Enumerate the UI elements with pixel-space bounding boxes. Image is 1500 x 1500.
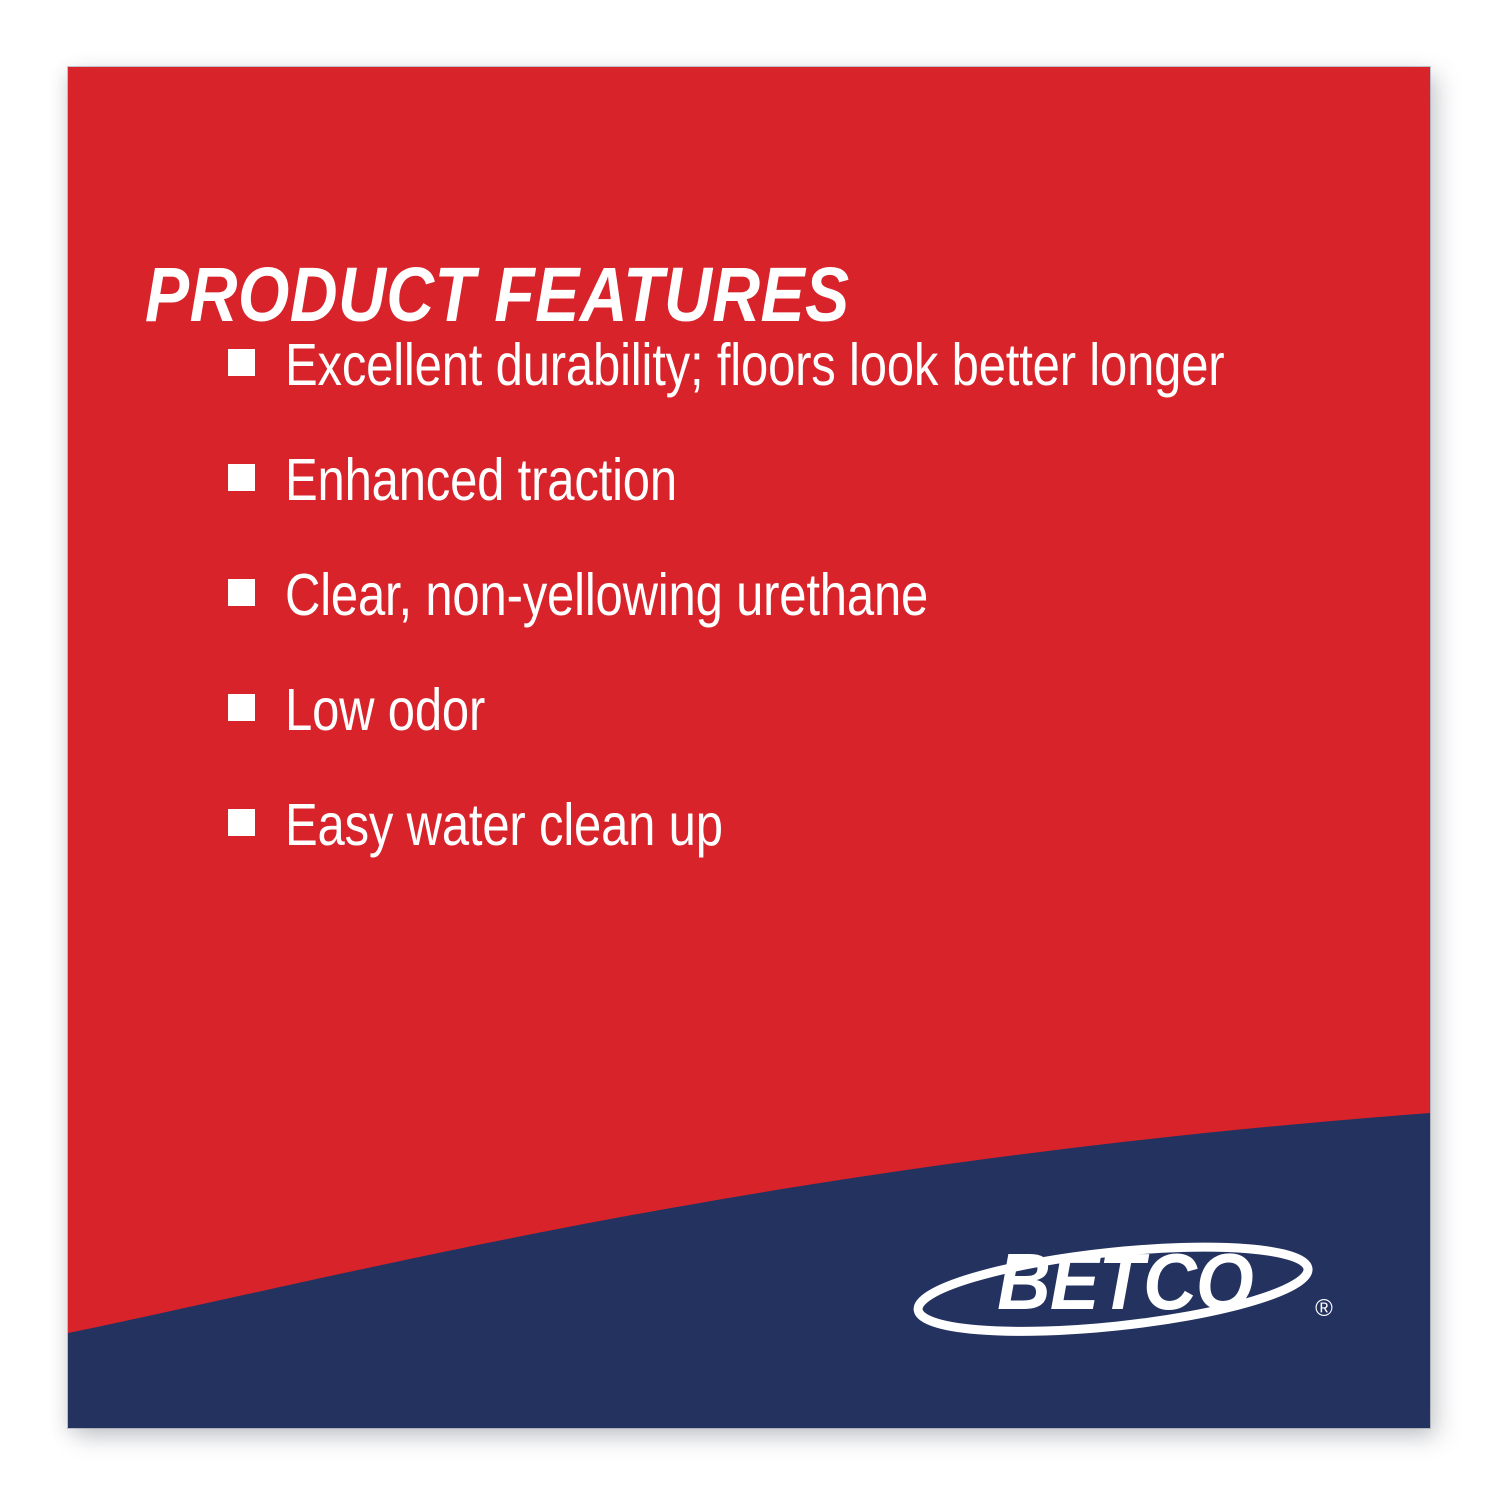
feature-label: Clear, non-yellowing urethane (285, 565, 928, 625)
product-features-list: Excellent durability; floors look better… (228, 335, 1358, 910)
square-bullet-icon (228, 809, 255, 836)
list-item: Excellent durability; floors look better… (228, 335, 1358, 450)
logo-wordmark: BETCO (997, 1238, 1253, 1327)
product-card: PRODUCT FEATURES Excellent durability; f… (68, 67, 1430, 1428)
feature-label: Easy water clean up (285, 795, 723, 855)
list-item: Easy water clean up (228, 795, 1358, 910)
betco-logo: BETCO ® (900, 1236, 1350, 1336)
feature-label: Enhanced traction (285, 450, 677, 510)
square-bullet-icon (228, 579, 255, 606)
list-item: Low odor (228, 680, 1358, 795)
square-bullet-icon (228, 349, 255, 376)
square-bullet-icon (228, 694, 255, 721)
feature-label: Low odor (285, 680, 485, 740)
product-feature-card-page: PRODUCT FEATURES Excellent durability; f… (0, 0, 1500, 1500)
square-bullet-icon (228, 464, 255, 491)
page-title: PRODUCT FEATURES (145, 257, 850, 334)
feature-label: Excellent durability; floors look better… (285, 335, 1224, 395)
list-item: Enhanced traction (228, 450, 1358, 565)
list-item: Clear, non-yellowing urethane (228, 565, 1358, 680)
registered-trademark-icon: ® (1315, 1295, 1333, 1322)
